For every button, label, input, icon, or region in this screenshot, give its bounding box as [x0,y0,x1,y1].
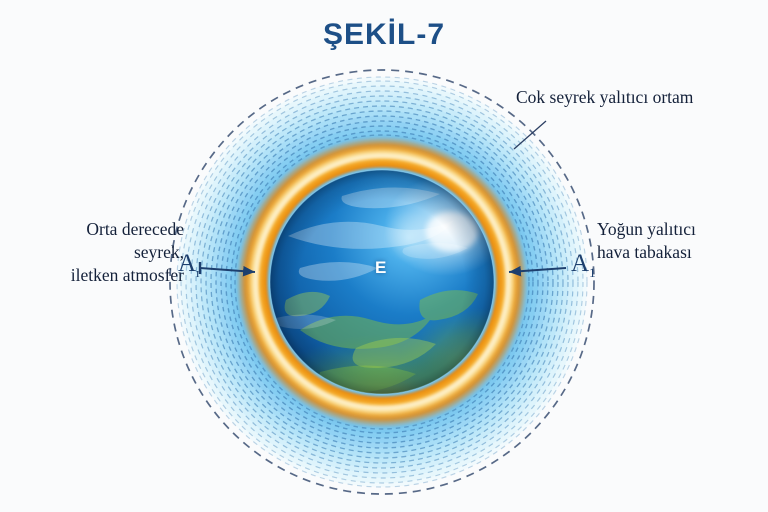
marker-a-right-base: A [571,250,589,277]
marker-a-left-base: A [178,250,196,277]
label-very-sparse-insulating-medium: Cok seyrek yalıtıcı ortam [516,86,693,109]
marker-label-a-right: A1 [571,250,596,281]
label-moderately-sparse-conductive-atmosphere: Orta derecede seyrek, iletken atmosfer [14,218,184,287]
marker-label-a-left: Ar [178,250,200,281]
marker-a-right-sub: 1 [589,265,596,280]
marker-label-earth: E [375,258,386,278]
label-dense-insulating-air-layer: Yoğun yalıtıcı hava tabakası [597,218,768,264]
figure-title: ŞEKİL-7 [0,18,768,52]
marker-a-left-sub: r [196,265,200,280]
